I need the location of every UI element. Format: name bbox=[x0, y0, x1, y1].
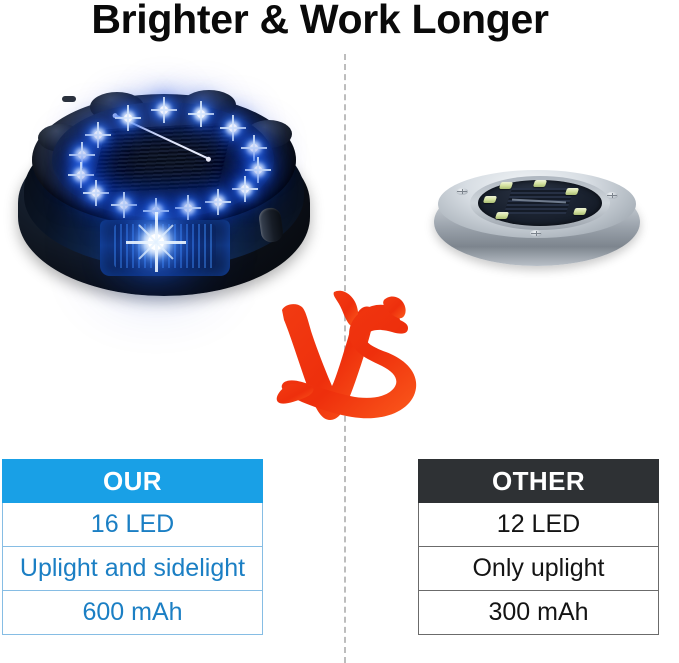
screw-head bbox=[606, 192, 618, 199]
other-product-image bbox=[434, 168, 640, 278]
product-comparison-graphic: Brighter & Work Longer bbox=[0, 0, 679, 663]
led-light bbox=[250, 144, 258, 152]
led-chip bbox=[573, 208, 587, 215]
comparison-table-our: OUR 16 LED Uplight and sidelight 600 mAh bbox=[2, 459, 263, 635]
page-title: Brighter & Work Longer bbox=[0, 0, 640, 43]
sidelight-alcove bbox=[100, 220, 230, 276]
table-row: Uplight and sidelight bbox=[2, 547, 263, 591]
led-light bbox=[197, 110, 205, 118]
led-light bbox=[124, 114, 132, 122]
led-light bbox=[120, 201, 128, 209]
housing-nub bbox=[62, 96, 76, 102]
led-chip bbox=[483, 196, 497, 203]
table-row: Only uplight bbox=[418, 547, 659, 591]
led-light bbox=[78, 151, 86, 159]
vs-badge bbox=[272, 286, 422, 466]
table-row: 600 mAh bbox=[2, 591, 263, 635]
table-row: 16 LED bbox=[2, 503, 263, 547]
led-light bbox=[94, 131, 102, 139]
led-chip bbox=[495, 212, 509, 219]
led-light bbox=[184, 204, 192, 212]
sidelight-flare bbox=[148, 234, 164, 250]
led-light bbox=[160, 106, 168, 114]
screw-head bbox=[530, 230, 542, 237]
led-light bbox=[77, 171, 85, 179]
table-row: 300 mAh bbox=[418, 591, 659, 635]
solar-panel bbox=[91, 123, 234, 194]
led-chip bbox=[565, 188, 579, 195]
led-light bbox=[241, 185, 249, 193]
table-header-other: OTHER bbox=[418, 459, 659, 503]
table-row: 12 LED bbox=[418, 503, 659, 547]
screw-head bbox=[456, 188, 468, 195]
table-header-our: OUR bbox=[2, 459, 263, 503]
led-chip bbox=[499, 182, 513, 189]
led-light bbox=[214, 198, 222, 206]
our-product-image bbox=[14, 88, 314, 300]
comparison-table-other: OTHER 12 LED Only uplight 300 mAh bbox=[418, 459, 659, 635]
led-light bbox=[92, 189, 100, 197]
led-light bbox=[229, 124, 237, 132]
led-chip bbox=[533, 180, 547, 187]
led-light bbox=[254, 166, 262, 174]
